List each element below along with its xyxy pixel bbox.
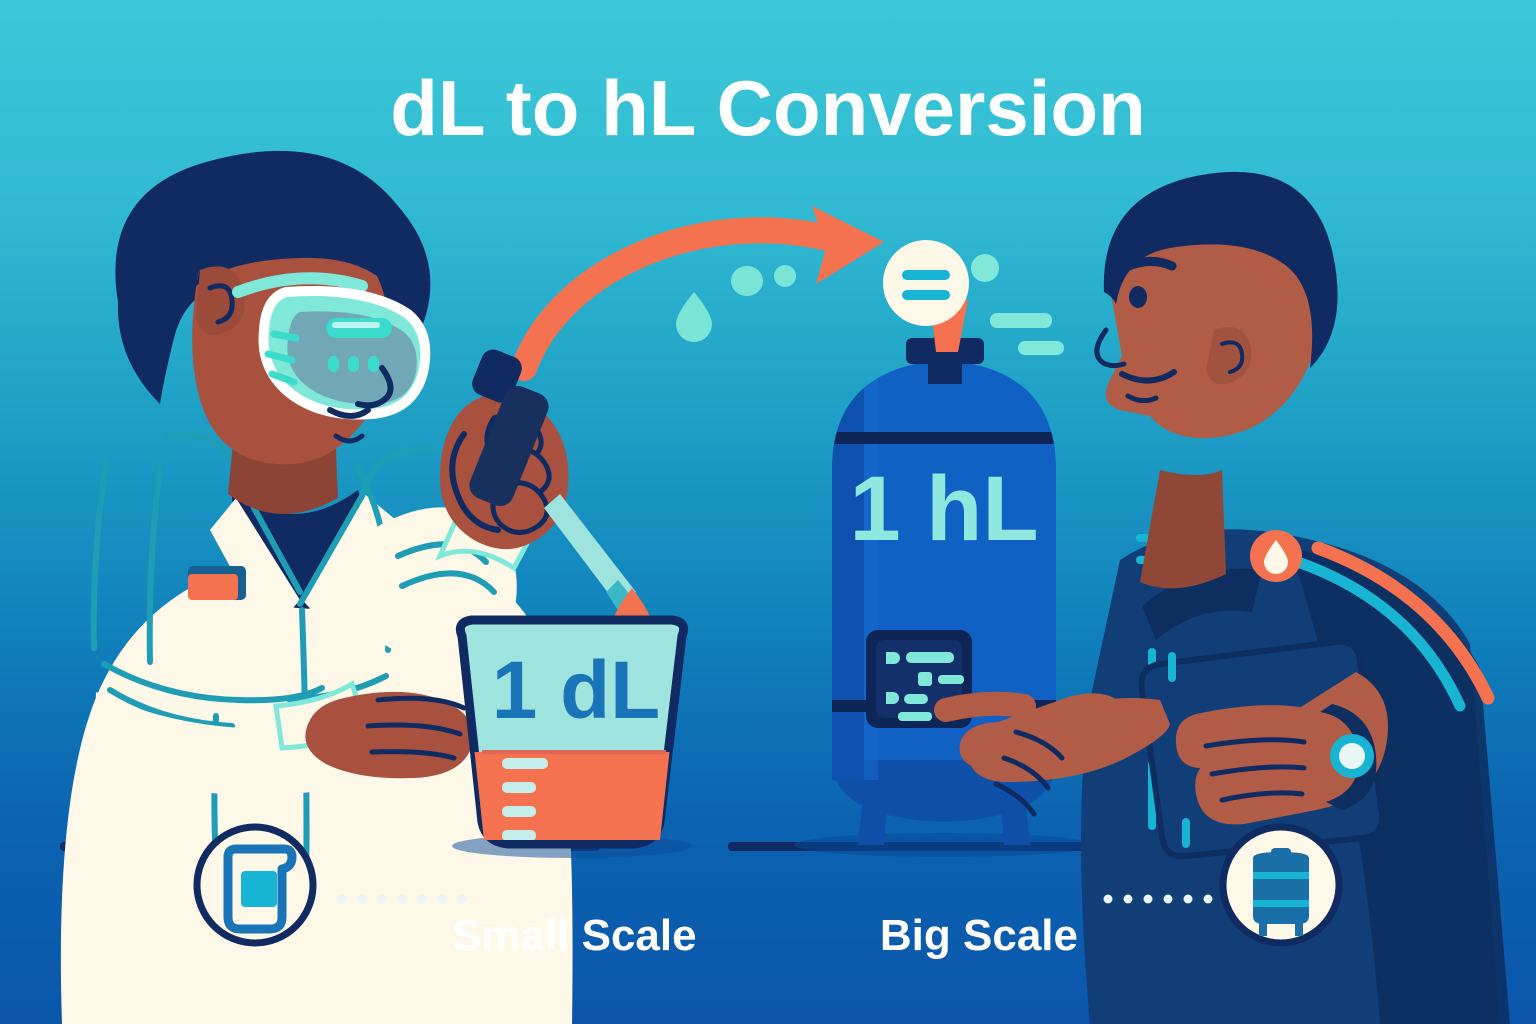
goggle-vent-dots: [328, 356, 379, 372]
measuring-beaker: 1 dL: [452, 620, 692, 862]
small-scale-label: Small Scale: [452, 911, 697, 960]
safety-goggles: [263, 291, 425, 415]
scientist-name-badge: [188, 566, 246, 600]
illustration-canvas: 1 hL: [0, 0, 1536, 1024]
conversion-illustration: 1 hL: [0, 0, 1536, 1024]
technician-eye: [1129, 286, 1147, 308]
panel-bar-1: [906, 652, 954, 663]
panel-bar-2: [938, 675, 964, 684]
page-title: dL to hL Conversion: [390, 64, 1145, 152]
graduation-mark-4: [502, 830, 536, 841]
uniform-droplet-logo: [1250, 530, 1302, 582]
graduation-mark-1: [502, 758, 548, 769]
graduation-mark-3: [502, 806, 536, 817]
equals-badge: [883, 240, 969, 326]
panel-bar-4: [898, 712, 932, 721]
panel-bar-3: [904, 694, 928, 704]
tablet-accent-top: [1168, 652, 1176, 682]
goggle-highlight-inner: [332, 322, 380, 328]
tablet-accent-bottom: [1182, 818, 1190, 848]
tank-capacity-label: 1 hL: [849, 458, 1038, 560]
panel-indicator-dot-1: [886, 652, 900, 664]
panel-indicator-dot-2: [886, 692, 899, 704]
equals-bar-top: [902, 270, 950, 280]
tank-band-top: [820, 432, 1076, 444]
beaker-capacity-label: 1 dL: [492, 645, 661, 736]
tank-icon: [1253, 848, 1309, 936]
equals-bar-bottom: [902, 290, 950, 300]
panel-square: [918, 672, 932, 686]
big-scale-label: Big Scale: [880, 911, 1078, 960]
graduation-mark-2: [502, 782, 536, 793]
